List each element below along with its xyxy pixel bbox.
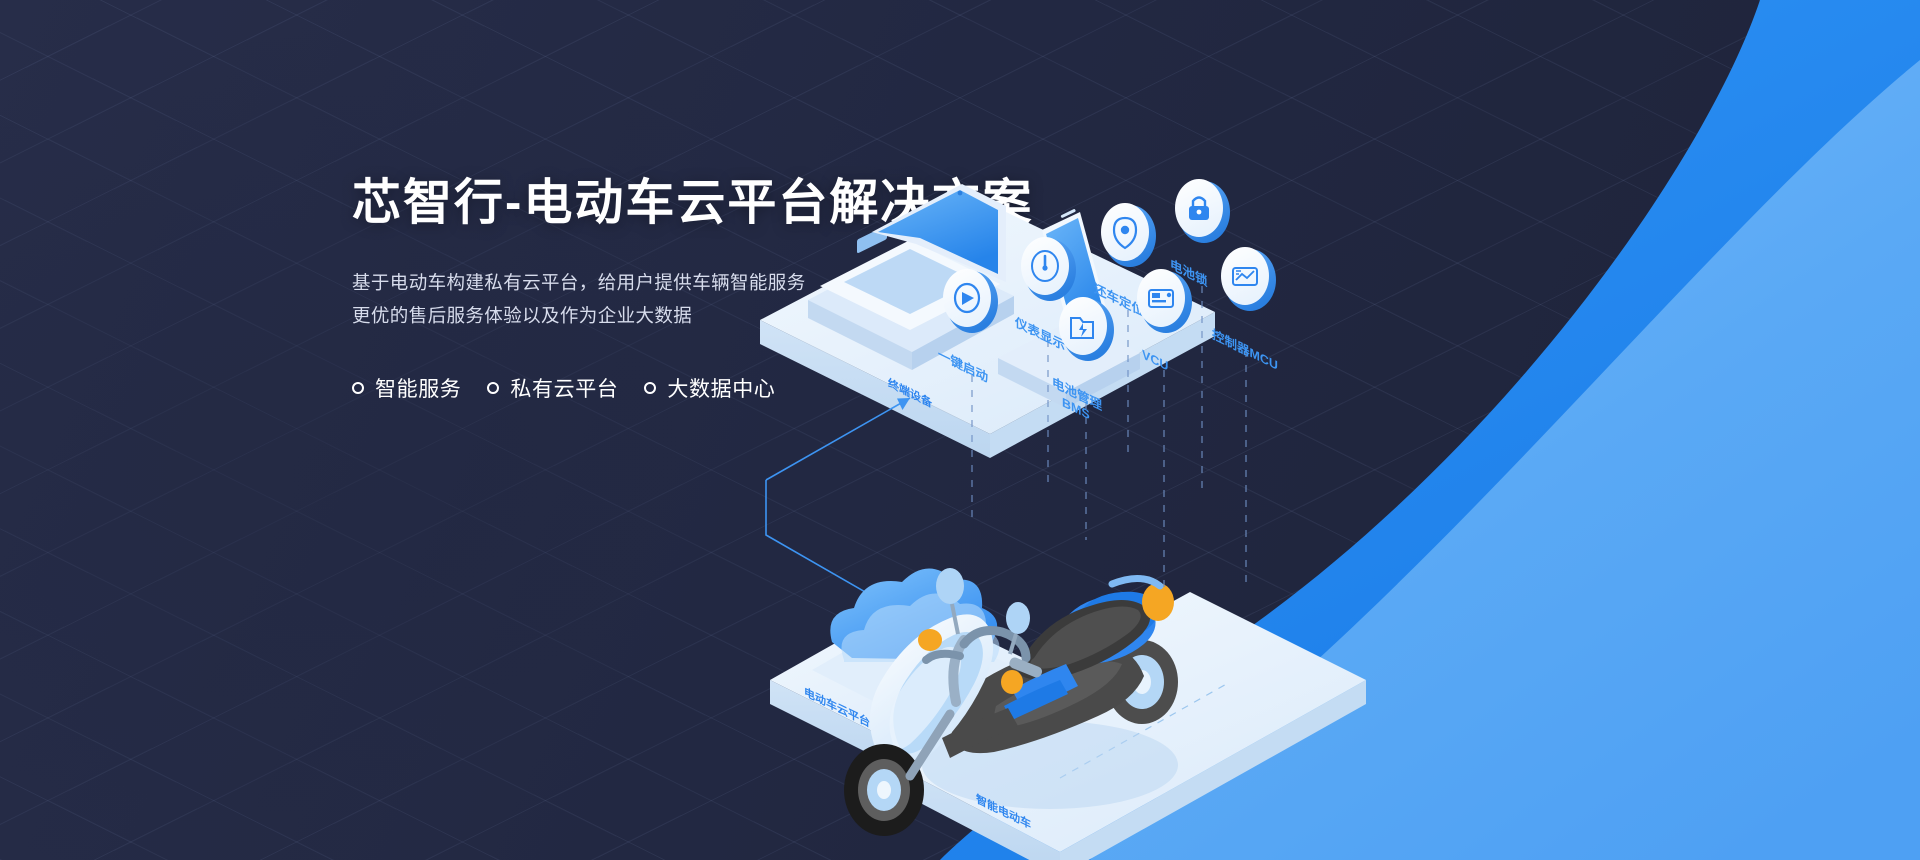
hollow-circle-bullet-icon bbox=[644, 382, 656, 394]
hero-banner: 芯智行-电动车云平台解决方案 基于电动车构建私有云平台，给用户提供车辆智能服务 … bbox=[0, 0, 1920, 860]
isometric-illustration: 终端设备 电动车云平台 bbox=[760, 190, 1920, 850]
node-badge-mcu[interactable]: 控制器MCU bbox=[1212, 247, 1278, 373]
hollow-circle-bullet-icon bbox=[352, 382, 364, 394]
node-badge-battery-lock[interactable]: 电池锁 bbox=[1170, 179, 1230, 289]
hollow-circle-bullet-icon bbox=[487, 382, 499, 394]
node-label: 控制器MCU bbox=[1212, 326, 1278, 373]
cloud-to-terminal-arrow bbox=[766, 398, 910, 480]
bullet-label: 智能服务 bbox=[375, 373, 461, 403]
front-wheel bbox=[844, 744, 924, 836]
bullet-item-private-cloud[interactable]: 私有云平台 bbox=[487, 373, 618, 403]
bullet-item-smart-service[interactable]: 智能服务 bbox=[352, 373, 461, 403]
bullet-item-big-data-center[interactable]: 大数据中心 bbox=[644, 373, 775, 403]
bullet-label: 私有云平台 bbox=[510, 373, 618, 403]
